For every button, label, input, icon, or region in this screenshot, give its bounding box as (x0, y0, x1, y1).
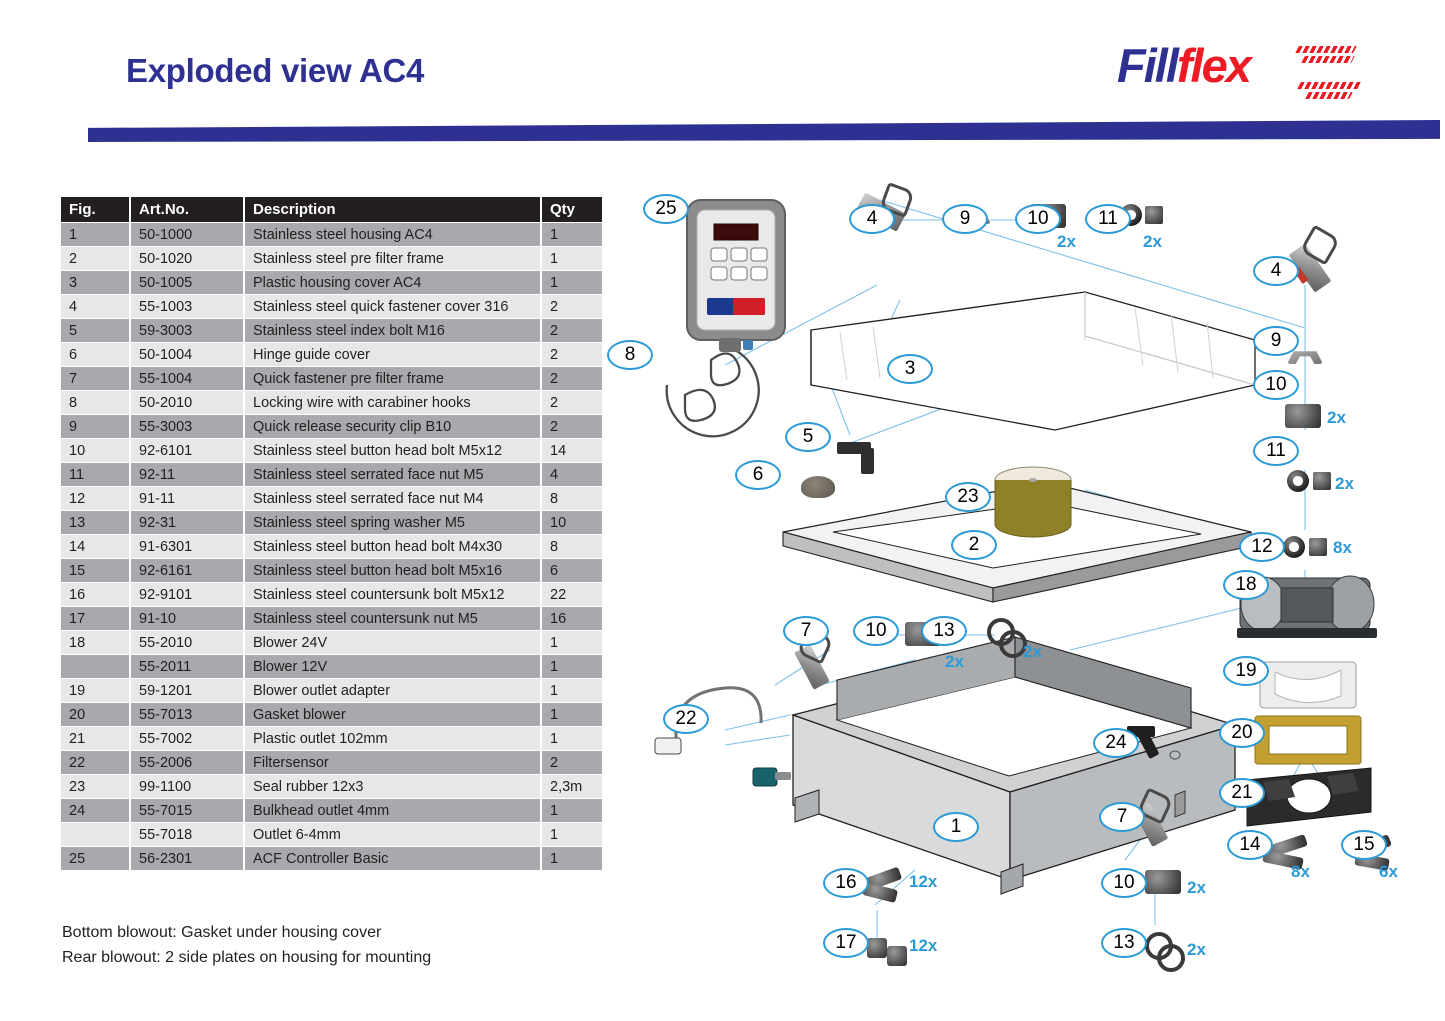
cell-qty: 1 (542, 823, 602, 846)
cell-fig: 17 (61, 607, 129, 630)
cell-artno: 50-2010 (131, 391, 243, 414)
table-row: 1791-10Stainless steel countersunk nut M… (61, 607, 602, 630)
cell-artno: 92-6161 (131, 559, 243, 582)
cell-description: Stainless steel housing AC4 (245, 223, 540, 246)
multiplier-label: 2x (1057, 232, 1076, 252)
page-title: Exploded view AC4 (126, 52, 424, 90)
cell-qty: 1 (542, 631, 602, 654)
table-row: 1491-6301Stainless steel button head bol… (61, 535, 602, 558)
table-row: 1092-6101Stainless steel button head bol… (61, 439, 602, 462)
cell-qty: 16 (542, 607, 602, 630)
cell-fig: 9 (61, 415, 129, 438)
cell-artno: 50-1005 (131, 271, 243, 294)
cell-fig: 11 (61, 463, 129, 486)
cell-fig: 15 (61, 559, 129, 582)
table-row: 955-3003Quick release security clip B102 (61, 415, 602, 438)
cell-qty: 1 (542, 703, 602, 726)
multiplier-label: 2x (1327, 408, 1346, 428)
cell-fig: 20 (61, 703, 129, 726)
cell-description: Plastic outlet 102mm (245, 727, 540, 750)
multiplier-label: 2x (1023, 642, 1042, 662)
multiplier-label: 8x (1291, 862, 1310, 882)
part-serrated-face-nut (1313, 472, 1331, 490)
cell-description: Blower outlet adapter (245, 679, 540, 702)
part-serrated-face-nut (1287, 470, 1309, 492)
part-acf-controller (687, 200, 785, 352)
cell-description: Stainless steel serrated face nut M5 (245, 463, 540, 486)
table-row: 2399-1100Seal rubber 12x32,3m (61, 775, 602, 798)
table-row: 1192-11Stainless steel serrated face nut… (61, 463, 602, 486)
cell-artno: 55-2011 (131, 655, 243, 678)
footer-notes: Bottom blowout: Gasket under housing cov… (62, 920, 431, 970)
parts-table: Fig. Art.No. Description Qty 150-1000Sta… (59, 196, 604, 871)
cell-qty: 1 (542, 223, 602, 246)
part-locking-wire (667, 349, 759, 436)
cell-artno: 92-9101 (131, 583, 243, 606)
fillflex-logo: Fillflex (1117, 36, 1357, 106)
table-row: 755-1004Quick fastener pre filter frame2 (61, 367, 602, 390)
callout-13[interactable]: 13 (1101, 928, 1147, 958)
part-steel-housing (793, 637, 1235, 894)
cell-qty: 2 (542, 751, 602, 774)
cell-fig: 25 (61, 847, 129, 870)
header-divider (88, 120, 1440, 142)
table-row: 1392-31Stainless steel spring washer M51… (61, 511, 602, 534)
cell-qty: 14 (542, 439, 602, 462)
table-row: 2255-2006Filtersensor2 (61, 751, 602, 774)
cell-artno: 59-3003 (131, 319, 243, 342)
cell-qty: 1 (542, 727, 602, 750)
callout-20[interactable]: 20 (1219, 718, 1265, 748)
cell-qty: 2 (542, 343, 602, 366)
table-row: 2055-7013Gasket blower1 (61, 703, 602, 726)
cell-fig: 2 (61, 247, 129, 270)
part-hinge-guide-cover (801, 476, 835, 498)
table-row: 1592-6161Stainless steel button head bol… (61, 559, 602, 582)
multiplier-label: 6x (1379, 862, 1398, 882)
cell-fig: 8 (61, 391, 129, 414)
table-row: 55-7018Outlet 6-4mm1 (61, 823, 602, 846)
part-blower-outlet-adapter (1260, 662, 1356, 708)
cell-description: Blower 12V (245, 655, 540, 678)
logo-fill-text: Fill (1117, 39, 1177, 92)
callout-15[interactable]: 15 (1341, 830, 1387, 860)
logo-streak-icon (1305, 92, 1353, 99)
callout-9[interactable]: 9 (1253, 326, 1299, 356)
cell-description: Filtersensor (245, 751, 540, 774)
cell-qty: 1 (542, 247, 602, 270)
note-rear-blowout: Rear blowout: 2 side plates on housing f… (62, 945, 431, 970)
cell-description: ACF Controller Basic (245, 847, 540, 870)
cell-artno: 55-1003 (131, 295, 243, 318)
cell-fig (61, 655, 129, 678)
cell-description: Stainless steel button head bolt M4x30 (245, 535, 540, 558)
table-row: 1855-2010Blower 24V1 (61, 631, 602, 654)
cell-qty: 22 (542, 583, 602, 606)
sensor-head (753, 768, 791, 786)
cell-fig: 10 (61, 439, 129, 462)
callout-5[interactable]: 5 (785, 422, 831, 452)
callout-10[interactable]: 10 (1101, 868, 1147, 898)
cell-description: Outlet 6-4mm (245, 823, 540, 846)
cell-artno: 91-10 (131, 607, 243, 630)
cell-artno: 55-2010 (131, 631, 243, 654)
cell-artno: 50-1004 (131, 343, 243, 366)
cell-qty: 2 (542, 367, 602, 390)
table-row: 650-1004Hinge guide cover2 (61, 343, 602, 366)
cell-qty: 2 (542, 319, 602, 342)
part-gasket-blower (1255, 716, 1361, 764)
cell-fig: 24 (61, 799, 129, 822)
cell-description: Bulkhead outlet 4mm (245, 799, 540, 822)
note-bottom-blowout: Bottom blowout: Gasket under housing cov… (62, 920, 431, 945)
cell-qty: 8 (542, 487, 602, 510)
cell-qty: 2,3m (542, 775, 602, 798)
cell-fig: 16 (61, 583, 129, 606)
logo-streak-icon (1301, 56, 1355, 63)
column-header-artno: Art.No. (131, 197, 243, 222)
callout-21[interactable]: 21 (1219, 778, 1265, 808)
cell-description: Stainless steel button head bolt M5x16 (245, 559, 540, 582)
cell-description: Stainless steel index bolt M16 (245, 319, 540, 342)
column-header-qty: Qty (542, 197, 602, 222)
callout-10[interactable]: 10 (1253, 370, 1299, 400)
table-row: 1291-11Stainless steel serrated face nut… (61, 487, 602, 510)
callout-6[interactable]: 6 (735, 460, 781, 490)
cell-description: Plastic housing cover AC4 (245, 271, 540, 294)
cell-artno: 55-7002 (131, 727, 243, 750)
callout-7[interactable]: 7 (783, 616, 829, 646)
multiplier-label: 2x (1187, 940, 1206, 960)
cell-qty: 8 (542, 535, 602, 558)
cell-artno: 55-7015 (131, 799, 243, 822)
callout-16[interactable]: 16 (823, 868, 869, 898)
table-row: 850-2010Locking wire with carabiner hook… (61, 391, 602, 414)
table-row: 55-2011Blower 12V1 (61, 655, 602, 678)
cell-fig: 19 (61, 679, 129, 702)
cell-fig: 21 (61, 727, 129, 750)
cell-artno: 91-11 (131, 487, 243, 510)
exploded-view-diagram: ACfilter 25 8 4 9 10 11 (615, 180, 1445, 980)
cell-fig: 12 (61, 487, 129, 510)
cell-qty: 6 (542, 559, 602, 582)
cell-qty: 4 (542, 463, 602, 486)
cell-description: Hinge guide cover (245, 343, 540, 366)
cell-description: Locking wire with carabiner hooks (245, 391, 540, 414)
cell-fig: 4 (61, 295, 129, 318)
cell-artno: 59-1201 (131, 679, 243, 702)
cell-fig: 13 (61, 511, 129, 534)
callout-4[interactable]: 4 (849, 204, 895, 234)
cell-artno: 92-6101 (131, 439, 243, 462)
cell-artno: 55-7018 (131, 823, 243, 846)
multiplier-label: 2x (1143, 232, 1162, 252)
cell-description: Stainless steel spring washer M5 (245, 511, 540, 534)
callout-23[interactable]: 23 (945, 482, 991, 512)
table-row: 2455-7015Bulkhead outlet 4mm1 (61, 799, 602, 822)
column-header-description: Description (245, 197, 540, 222)
cell-artno: 50-1000 (131, 223, 243, 246)
callout-3[interactable]: 3 (887, 354, 933, 384)
callout-17[interactable]: 17 (823, 928, 869, 958)
part-plastic-outlet (1247, 768, 1371, 826)
multiplier-label: 2x (1187, 878, 1206, 898)
cell-description: Blower 24V (245, 631, 540, 654)
cell-fig: 14 (61, 535, 129, 558)
cell-description: Stainless steel countersunk nut M5 (245, 607, 540, 630)
part-countersunk-nut (887, 946, 907, 966)
part-serrated-face-nut (1145, 206, 1163, 224)
cell-fig: 3 (61, 271, 129, 294)
cell-qty: 10 (542, 511, 602, 534)
cell-fig (61, 823, 129, 846)
cell-artno: 92-11 (131, 463, 243, 486)
table-row: 1692-9101Stainless steel countersunk bol… (61, 583, 602, 606)
cell-qty: 1 (542, 679, 602, 702)
cell-description: Stainless steel serrated face nut M4 (245, 487, 540, 510)
part-seal-rubber (995, 467, 1071, 537)
multiplier-label: 12x (909, 936, 937, 956)
cell-description: Quick fastener pre filter frame (245, 367, 540, 390)
cell-qty: 1 (542, 271, 602, 294)
cell-fig: 22 (61, 751, 129, 774)
table-row: 350-1005Plastic housing cover AC41 (61, 271, 602, 294)
callout-12[interactable]: 12 (1239, 532, 1285, 562)
logo-flex-text: flex (1177, 39, 1250, 92)
cell-artno: 99-1100 (131, 775, 243, 798)
multiplier-label: 2x (945, 652, 964, 672)
table-row: 455-1003Stainless steel quick fastener c… (61, 295, 602, 318)
cell-artno: 92-31 (131, 511, 243, 534)
cell-qty: 2 (542, 391, 602, 414)
sensor-connector (655, 738, 681, 754)
multiplier-label: 8x (1333, 538, 1352, 558)
cell-qty: 1 (542, 799, 602, 822)
callout-4[interactable]: 4 (1253, 256, 1299, 286)
cell-qty: 2 (542, 415, 602, 438)
callout-10[interactable]: 10 (1015, 204, 1061, 234)
diagram-artwork (615, 180, 1445, 980)
cell-artno: 55-2006 (131, 751, 243, 774)
table-row: 2155-7002Plastic outlet 102mm1 (61, 727, 602, 750)
cell-description: Quick release security clip B10 (245, 415, 540, 438)
logo-streak-icon (1295, 46, 1357, 53)
callout-11[interactable]: 11 (1253, 436, 1299, 466)
callout-8[interactable]: 8 (607, 340, 653, 370)
cell-fig: 23 (61, 775, 129, 798)
callout-22[interactable]: 22 (663, 704, 709, 734)
table-row: 150-1000Stainless steel housing AC41 (61, 223, 602, 246)
callout-13[interactable]: 13 (921, 616, 967, 646)
callout-25[interactable]: 25 (643, 194, 689, 224)
cell-artno: 50-1020 (131, 247, 243, 270)
cell-fig: 5 (61, 319, 129, 342)
cell-artno: 55-3003 (131, 415, 243, 438)
multiplier-label: 12x (909, 872, 937, 892)
cell-artno: 55-1004 (131, 367, 243, 390)
cell-artno: 56-2301 (131, 847, 243, 870)
callout-11[interactable]: 11 (1085, 204, 1131, 234)
callout-19[interactable]: 19 (1223, 656, 1269, 686)
callout-9[interactable]: 9 (942, 204, 988, 234)
cell-description: Stainless steel button head bolt M5x12 (245, 439, 540, 462)
cell-qty: 1 (542, 655, 602, 678)
cell-qty: 2 (542, 295, 602, 318)
cell-fig: 6 (61, 343, 129, 366)
table-row: 2556-2301ACF Controller Basic1 (61, 847, 602, 870)
cell-description: Gasket blower (245, 703, 540, 726)
part-spring-washer (1157, 944, 1185, 972)
part-index-bolt-stem (861, 448, 874, 474)
part-button-head-bolt (1145, 870, 1181, 894)
part-serrated-face-nut-m4 (1309, 538, 1327, 556)
cell-description: Seal rubber 12x3 (245, 775, 540, 798)
cell-fig: 1 (61, 223, 129, 246)
cell-description: Stainless steel pre filter frame (245, 247, 540, 270)
callout-24[interactable]: 24 (1093, 728, 1139, 758)
callout-10[interactable]: 10 (853, 616, 899, 646)
callout-14[interactable]: 14 (1227, 830, 1273, 860)
callout-1[interactable]: 1 (933, 812, 979, 842)
part-serrated-face-nut-m4 (1283, 536, 1305, 558)
multiplier-label: 2x (1335, 474, 1354, 494)
part-button-head-bolt (1285, 404, 1321, 428)
table-row: 1959-1201Blower outlet adapter1 (61, 679, 602, 702)
table-row: 250-1020Stainless steel pre filter frame… (61, 247, 602, 270)
cell-fig: 7 (61, 367, 129, 390)
part-countersunk-nut (867, 938, 887, 958)
callout-2[interactable]: 2 (951, 530, 997, 560)
callout-7[interactable]: 7 (1099, 802, 1145, 832)
cell-description: Stainless steel quick fastener cover 316 (245, 295, 540, 318)
callout-18[interactable]: 18 (1223, 570, 1269, 600)
cell-qty: 1 (542, 847, 602, 870)
column-header-fig: Fig. (61, 197, 129, 222)
cell-description: Stainless steel countersunk bolt M5x12 (245, 583, 540, 606)
cell-fig: 18 (61, 631, 129, 654)
cell-artno: 91-6301 (131, 535, 243, 558)
logo-wordmark: Fillflex (1117, 42, 1250, 89)
table-row: 559-3003Stainless steel index bolt M162 (61, 319, 602, 342)
table-header-row: Fig. Art.No. Description Qty (61, 197, 602, 222)
logo-streak-icon (1297, 82, 1363, 89)
cell-artno: 55-7013 (131, 703, 243, 726)
